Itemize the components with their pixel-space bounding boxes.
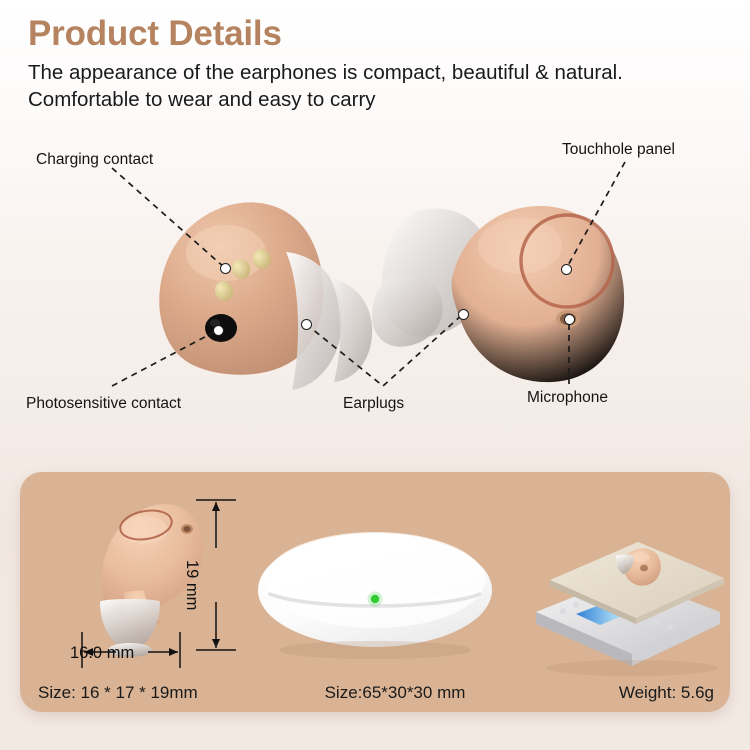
specification-captions: Size: 16 * 17 * 19mm Size:65*30*30 mm We…	[20, 672, 730, 712]
earplug-left-dot	[301, 319, 312, 330]
dimension-height-label: 19 mm	[184, 560, 201, 610]
digital-scale	[536, 542, 724, 676]
page-subtitle: The appearance of the earphones is compa…	[28, 59, 728, 114]
left-earphone	[159, 202, 372, 390]
spec-earphone-weight: Weight: 5.6g	[520, 684, 730, 701]
callout-touchhole-panel: Touchhole panel	[562, 142, 675, 158]
photosensitive-contact-dot	[213, 325, 224, 336]
product-details-infographic: Product Details The appearance of the ea…	[0, 0, 750, 750]
header: Product Details The appearance of the ea…	[28, 16, 728, 113]
earphone-illustration	[0, 128, 750, 436]
callout-charging-contact: Charging contact	[36, 152, 153, 168]
dimension-width-label: 16.0 mm	[70, 645, 134, 662]
charging-case	[258, 532, 492, 659]
callout-earplugs: Earplugs	[343, 396, 404, 412]
touchhole-panel-dot	[561, 264, 572, 275]
callout-microphone: Microphone	[527, 390, 608, 406]
earplug-right-dot	[458, 309, 469, 320]
page-title: Product Details	[28, 16, 728, 53]
charging-contact-dot	[220, 263, 231, 274]
spec-earphone-size: Size: 16 * 17 * 19mm	[20, 684, 270, 701]
microphone-dot	[564, 314, 575, 325]
spec-case-size: Size:65*30*30 mm	[270, 684, 520, 701]
callout-photosensitive-contact: Photosensitive contact	[26, 396, 181, 412]
earphone-diagram: Charging contact Touchhole panel Photose…	[0, 128, 750, 436]
